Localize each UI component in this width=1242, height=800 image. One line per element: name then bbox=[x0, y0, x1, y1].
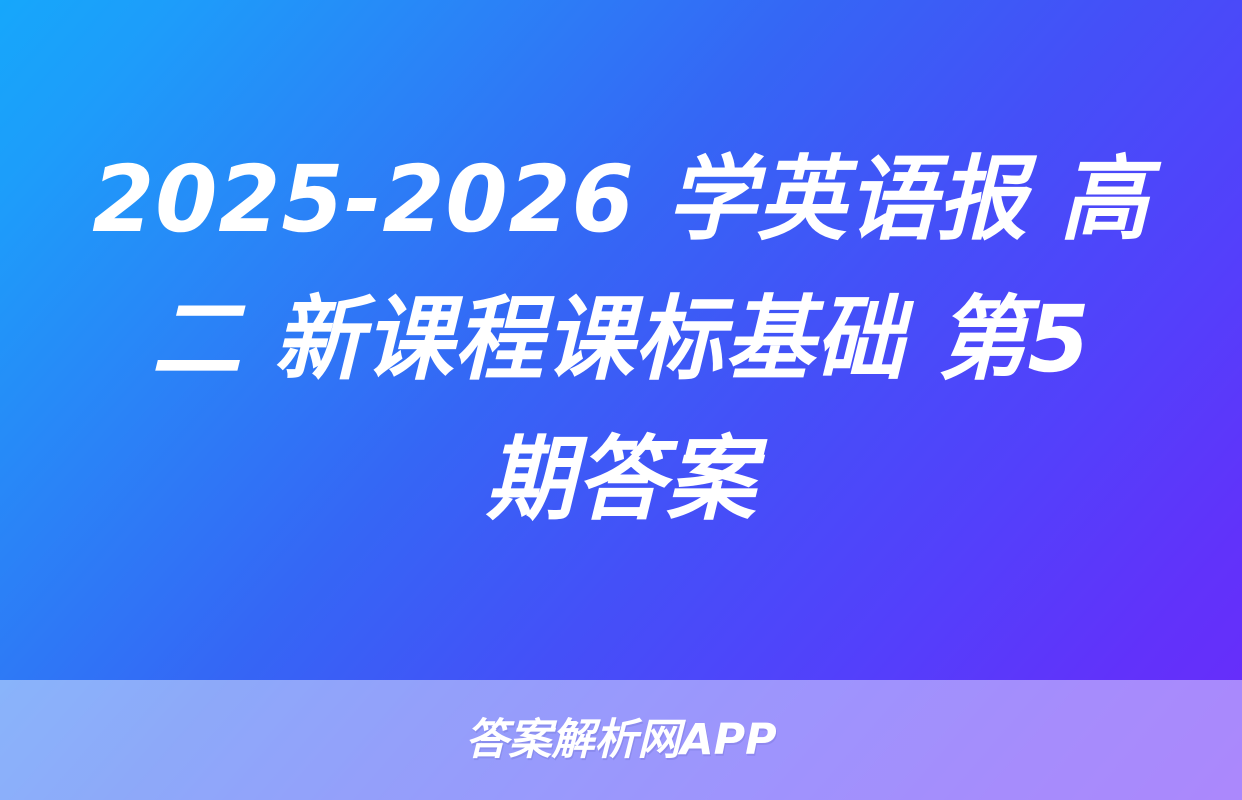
poster-canvas: 2025-2026 学英语报 高 二 新课程课标基础 第5 期答案 答案解析网A… bbox=[0, 0, 1242, 800]
app-watermark-label: 答案解析网APP bbox=[465, 719, 776, 762]
headline-block: 2025-2026 学英语报 高 二 新课程课标基础 第5 期答案 bbox=[0, 0, 1242, 680]
title-line-2: 二 新课程课标基础 第5 bbox=[63, 270, 1179, 410]
footer-band: 答案解析网APP bbox=[0, 680, 1242, 800]
title-line-3: 期答案 bbox=[63, 410, 1179, 550]
title-line-1: 2025-2026 学英语报 高 bbox=[63, 130, 1179, 270]
